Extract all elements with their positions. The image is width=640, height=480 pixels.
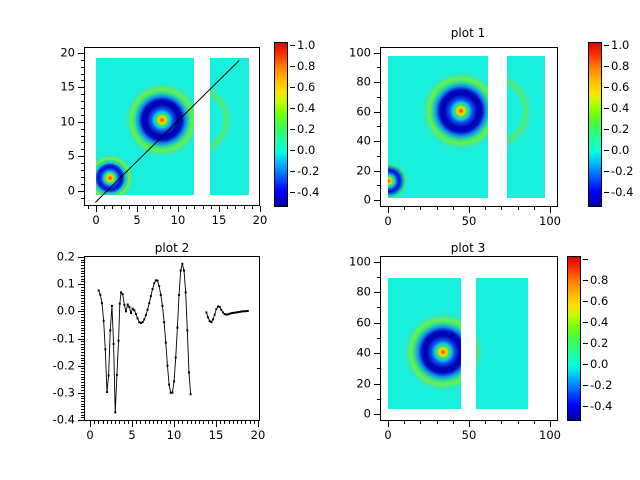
minor-tick xyxy=(233,421,234,424)
heat-region-right xyxy=(507,56,545,198)
minor-tick xyxy=(81,298,84,299)
data-point-marker xyxy=(143,318,145,320)
minor-tick xyxy=(81,355,84,356)
minor-tick xyxy=(81,363,84,364)
data-point-marker xyxy=(188,371,190,373)
data-point-marker xyxy=(103,320,105,322)
data-point-marker xyxy=(111,305,113,307)
minor-tick xyxy=(81,368,84,369)
minor-tick xyxy=(149,421,150,424)
minor-tick xyxy=(161,421,162,424)
minor-tick xyxy=(81,347,84,348)
data-point-marker xyxy=(113,343,115,345)
minor-tick xyxy=(81,387,84,388)
data-point-marker xyxy=(210,321,212,323)
data-point-marker xyxy=(147,309,149,311)
minor-tick xyxy=(166,421,167,424)
heat-region-left xyxy=(388,278,461,409)
data-point-marker xyxy=(99,294,101,296)
data-point-marker xyxy=(158,285,160,287)
minor-tick xyxy=(237,421,238,424)
minor-tick xyxy=(81,325,84,326)
minor-tick xyxy=(81,268,84,269)
panel-top-right-title: plot 1 xyxy=(451,26,485,40)
data-point-marker xyxy=(118,340,120,342)
data-point-marker xyxy=(127,304,129,306)
minor-tick xyxy=(81,309,84,310)
minor-tick xyxy=(81,287,84,288)
data-point-marker xyxy=(137,317,139,319)
minor-tick xyxy=(81,404,84,405)
minor-tick xyxy=(81,279,84,280)
panel-bottom-right: plot 3 100 80 60 40 20 0 xyxy=(320,240,640,480)
colorbar-bottom-right xyxy=(567,256,581,421)
data-point-marker xyxy=(175,357,177,359)
line-path xyxy=(99,264,191,413)
minor-tick xyxy=(250,421,251,424)
minor-tick xyxy=(81,390,84,391)
minor-tick xyxy=(81,379,84,380)
panel-bottom-left-plot-area xyxy=(85,257,259,420)
minor-tick xyxy=(81,290,84,291)
minor-tick xyxy=(115,421,116,424)
minor-tick xyxy=(81,303,84,304)
minor-tick xyxy=(81,328,84,329)
heat-region-right xyxy=(210,58,249,195)
minor-tick xyxy=(140,421,141,424)
panel-top-right-plot-area xyxy=(381,48,557,206)
minor-tick xyxy=(103,421,104,424)
data-point-marker xyxy=(160,294,162,296)
minor-tick xyxy=(208,421,209,424)
minor-tick xyxy=(81,396,84,397)
minor-tick xyxy=(81,276,84,277)
minor-tick xyxy=(81,385,84,386)
minor-tick xyxy=(81,330,84,331)
minor-tick xyxy=(81,401,84,402)
minor-tick xyxy=(81,382,84,383)
minor-tick xyxy=(81,295,84,296)
data-point-marker xyxy=(165,342,167,344)
minor-tick xyxy=(81,406,84,407)
minor-tick xyxy=(81,314,84,315)
data-point-marker xyxy=(214,314,216,316)
data-point-marker xyxy=(171,392,173,394)
data-point-marker xyxy=(190,393,192,395)
figure-canvas: 20 15 10 5 0 xyxy=(0,0,640,480)
data-point-marker xyxy=(114,411,116,413)
minor-tick xyxy=(81,317,84,318)
minor-tick xyxy=(81,341,84,342)
minor-tick xyxy=(81,333,84,334)
data-point-marker xyxy=(183,270,185,272)
colorbar-top-left xyxy=(274,42,288,207)
panel-top-right: plot 1 100 80 60 40 20 0 xyxy=(320,0,640,240)
data-point-marker xyxy=(98,289,100,291)
data-point-marker xyxy=(186,329,188,331)
minor-tick xyxy=(229,421,230,424)
minor-tick xyxy=(81,260,84,261)
minor-tick xyxy=(241,421,242,424)
data-point-marker xyxy=(163,321,165,323)
minor-tick xyxy=(81,352,84,353)
data-point-marker xyxy=(130,312,132,314)
panel-bottom-right-plot-area xyxy=(381,257,557,420)
data-point-marker xyxy=(142,321,144,323)
data-point-marker xyxy=(108,374,110,376)
data-point-marker xyxy=(128,306,130,308)
minor-tick xyxy=(81,273,84,274)
panel-top-left: 20 15 10 5 0 xyxy=(0,0,320,240)
data-point-marker xyxy=(104,348,106,350)
data-point-marker xyxy=(106,391,108,393)
minor-tick xyxy=(81,417,84,418)
minor-tick xyxy=(81,360,84,361)
data-point-marker xyxy=(150,295,152,297)
data-point-marker xyxy=(133,309,135,311)
data-point-marker xyxy=(119,303,121,305)
minor-tick xyxy=(124,421,125,424)
data-point-marker xyxy=(166,365,168,367)
data-point-marker xyxy=(153,282,155,284)
minor-tick xyxy=(119,421,120,424)
minor-tick xyxy=(81,322,84,323)
minor-tick xyxy=(81,271,84,272)
minor-tick xyxy=(81,398,84,399)
minor-tick xyxy=(81,344,84,345)
data-point-marker xyxy=(120,291,122,293)
data-point-marker xyxy=(220,309,222,311)
data-point-marker xyxy=(116,374,118,376)
data-point-marker xyxy=(247,310,249,312)
panel-bottom-left-title: plot 2 xyxy=(155,241,189,255)
minor-tick xyxy=(245,421,246,424)
minor-tick xyxy=(81,371,84,372)
data-point-marker xyxy=(168,384,170,386)
minor-tick xyxy=(81,358,84,359)
minor-tick xyxy=(128,421,129,424)
data-point-marker xyxy=(173,380,175,382)
minor-tick xyxy=(94,421,95,424)
peak-halo-center xyxy=(125,83,194,157)
data-point-marker xyxy=(161,305,163,307)
minor-tick xyxy=(81,306,84,307)
data-point-marker xyxy=(180,270,182,272)
minor-tick xyxy=(81,374,84,375)
colorbar-top-right xyxy=(588,42,602,207)
data-point-marker xyxy=(176,327,178,329)
minor-tick xyxy=(195,421,196,424)
heat-region-right xyxy=(476,278,528,409)
data-point-marker xyxy=(207,316,209,318)
minor-tick xyxy=(187,421,188,424)
data-point-marker xyxy=(101,302,103,304)
minor-tick xyxy=(81,349,84,350)
minor-tick xyxy=(199,421,200,424)
data-point-marker xyxy=(123,304,125,306)
minor-tick xyxy=(191,421,192,424)
minor-tick xyxy=(224,421,225,424)
data-point-marker xyxy=(122,293,124,295)
panel-bottom-right-title: plot 3 xyxy=(451,241,485,255)
data-point-marker xyxy=(205,311,207,313)
minor-tick xyxy=(254,421,255,424)
data-point-marker xyxy=(148,302,150,304)
data-point-marker xyxy=(219,306,221,308)
minor-tick xyxy=(111,421,112,424)
minor-tick xyxy=(81,336,84,337)
minor-tick xyxy=(81,412,84,413)
minor-tick xyxy=(81,265,84,266)
minor-tick xyxy=(81,292,84,293)
field-background-right xyxy=(476,278,528,409)
data-point-marker xyxy=(157,280,159,282)
data-point-marker xyxy=(178,294,180,296)
data-point-marker xyxy=(185,291,187,293)
minor-tick xyxy=(212,421,213,424)
heat-region-left xyxy=(96,58,194,195)
data-point-marker xyxy=(212,318,214,320)
minor-tick xyxy=(81,377,84,378)
data-point-marker xyxy=(135,313,137,315)
minor-tick xyxy=(220,421,221,424)
minor-tick xyxy=(81,281,84,282)
minor-tick xyxy=(81,415,84,416)
data-point-marker xyxy=(145,314,147,316)
panel-bottom-left: plot 2 0.2 0.1 0.0 -0.1 -0.2 -0.3 -0.4 0 xyxy=(0,240,320,480)
minor-tick xyxy=(81,301,84,302)
heat-region-left xyxy=(388,56,488,198)
minor-tick xyxy=(145,421,146,424)
panel-top-left-plot-area xyxy=(85,48,259,205)
data-point-marker xyxy=(215,308,217,310)
minor-tick xyxy=(81,320,84,321)
minor-tick xyxy=(153,421,154,424)
minor-tick xyxy=(81,262,84,263)
minor-tick xyxy=(157,421,158,424)
line-series-svg xyxy=(85,257,259,420)
minor-tick xyxy=(136,421,137,424)
minor-tick xyxy=(203,421,204,424)
minor-tick xyxy=(81,409,84,410)
minor-tick xyxy=(182,421,183,424)
minor-tick xyxy=(170,421,171,424)
data-point-marker xyxy=(125,310,127,312)
data-point-marker xyxy=(181,263,183,265)
minor-tick xyxy=(178,421,179,424)
data-point-marker xyxy=(109,329,111,331)
minor-tick xyxy=(98,421,99,424)
data-point-marker xyxy=(152,288,154,290)
minor-tick xyxy=(107,421,108,424)
